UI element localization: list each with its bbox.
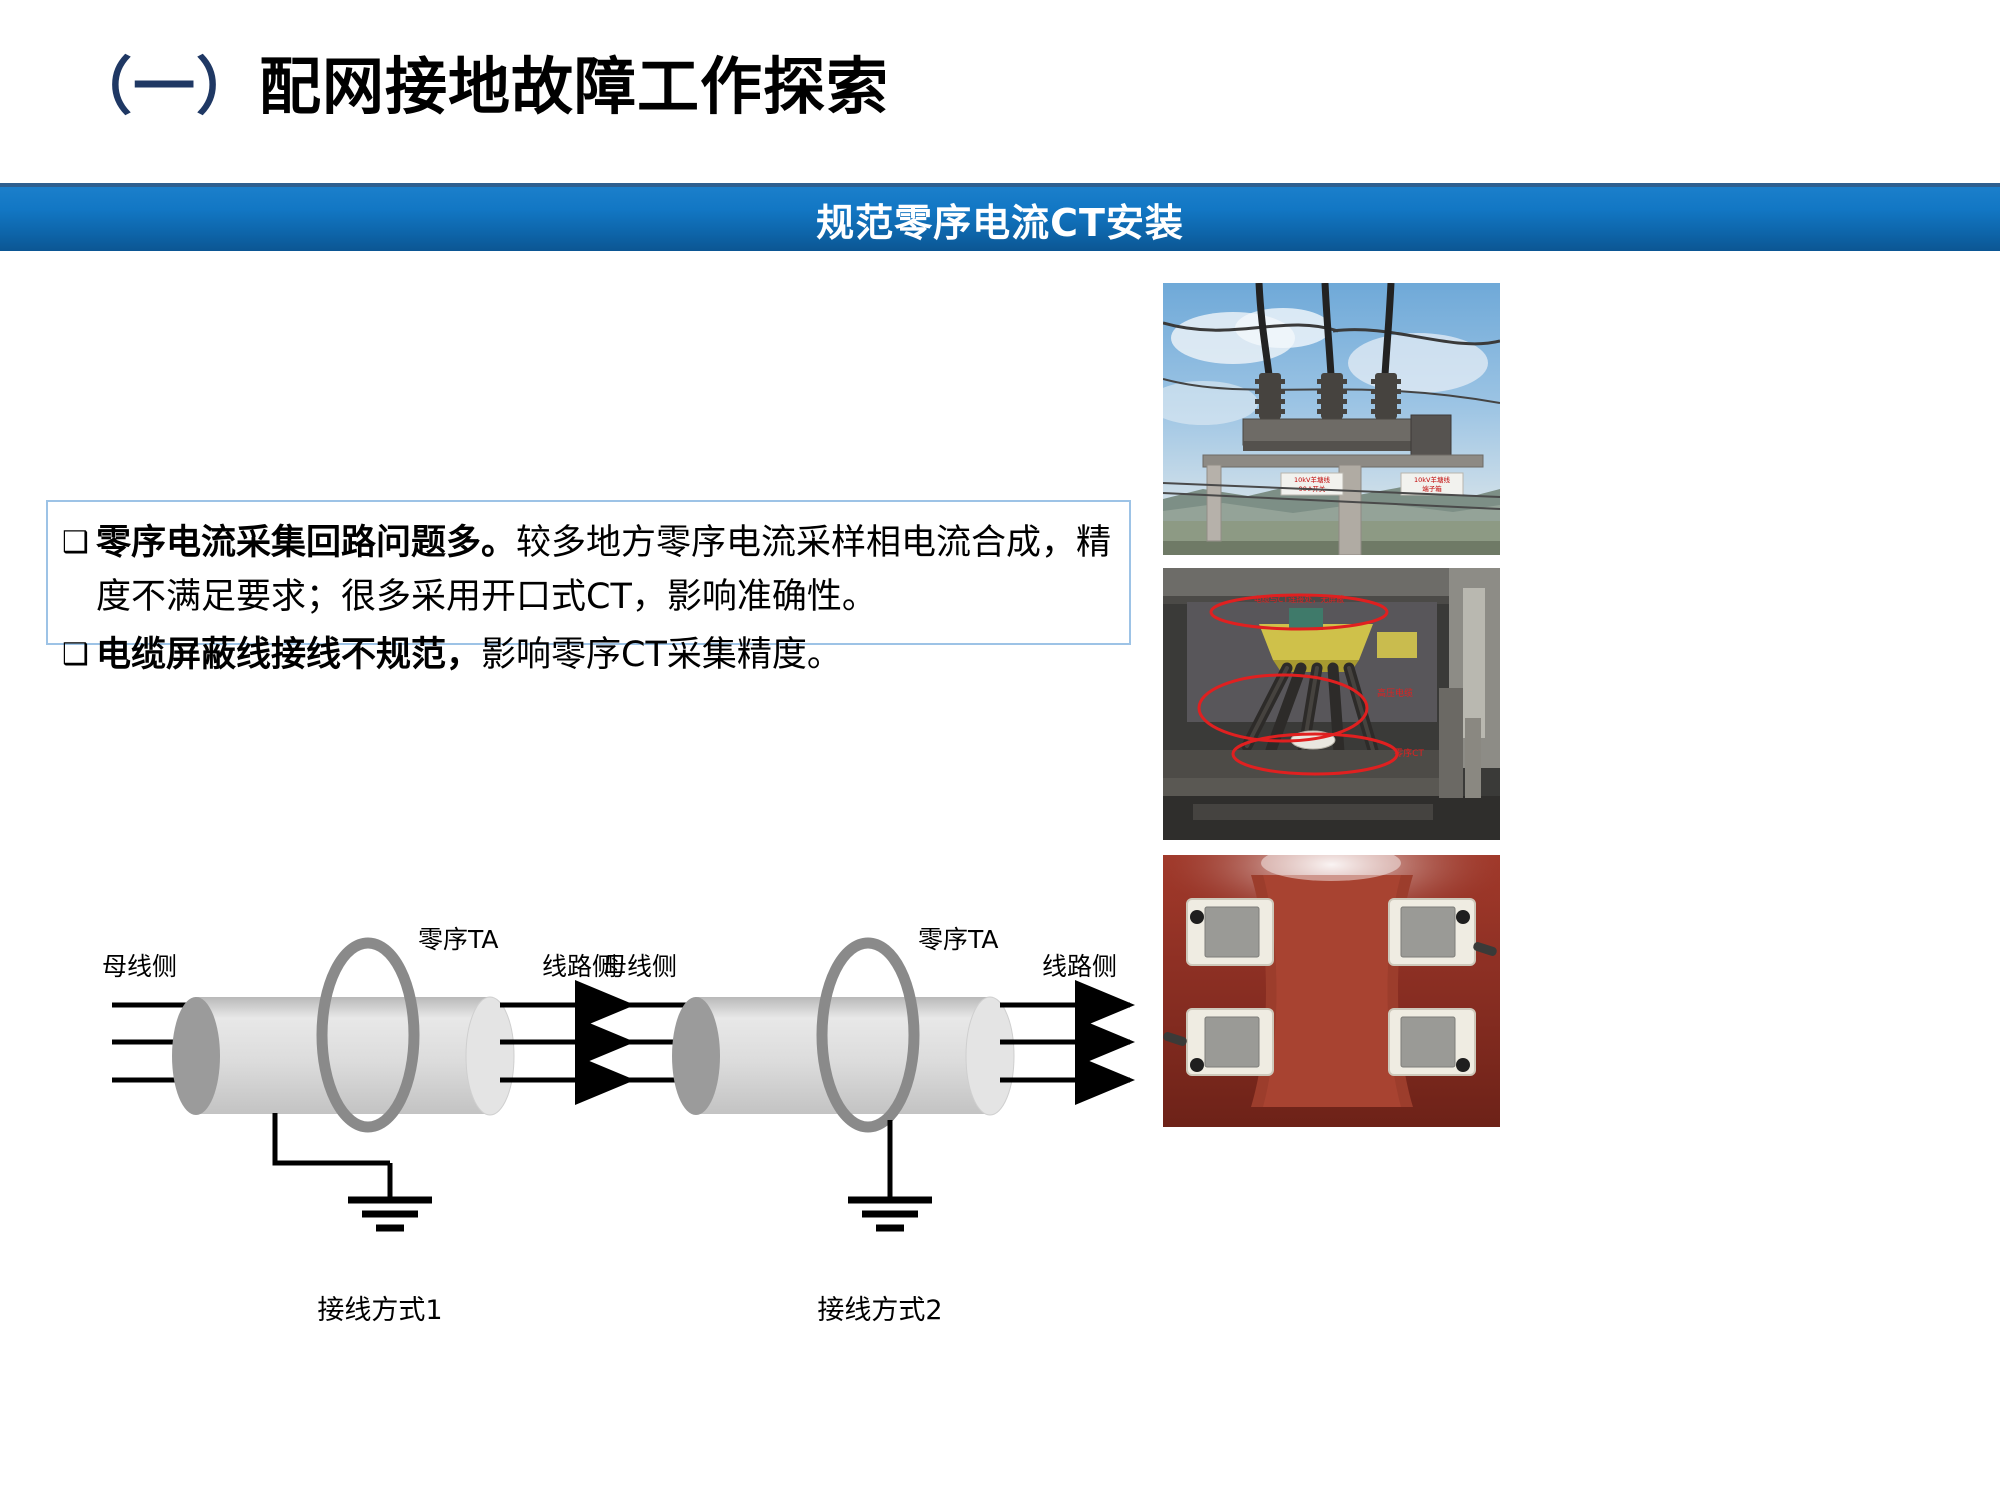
- section-banner: 规范零序电流CT安装: [0, 183, 2000, 251]
- list-item: ❑ 电缆屏蔽线接线不规范，影响零序CT采集精度。: [62, 628, 1119, 682]
- section-banner-title: 规范零序电流CT安装: [816, 192, 1184, 247]
- photo-2-svg: 电缆与CT连接处，无屏蔽 高压电缆 零序CT: [1163, 568, 1500, 840]
- ta-label-2: 零序TA: [918, 925, 998, 954]
- bullet-2-bold: 电缆屏蔽线接线不规范，: [96, 635, 481, 675]
- photo-1-annotation-1-line-1: 10kV羊塘线: [1294, 475, 1330, 484]
- ta-label-1: 零序TA: [418, 925, 498, 954]
- photo-2-annotation-2: 高压电缆: [1377, 687, 1413, 699]
- bullet-callout-box: ❑ 零序电流采集回路问题多。较多地方零序电流采样相电流合成，精度不满足要求；很多…: [46, 500, 1131, 645]
- bullet-2-regular: 影响零序CT采集精度。: [481, 635, 842, 675]
- photo-3-svg: [1163, 855, 1500, 1127]
- wiring-diagram-2: 零序TA 母线侧 线路侧 接线方式2: [600, 920, 1160, 1320]
- bus-side-label-2: 母线侧: [602, 952, 677, 981]
- wiring-diagram-1-svg: 零序TA 母线侧 线路侧: [100, 920, 660, 1280]
- photo-cable-termination-cubicle: 电缆与CT连接处，无屏蔽 高压电缆 零序CT: [1163, 568, 1500, 840]
- diagram-2-caption: 接线方式2: [600, 1288, 1160, 1327]
- bus-side-label-1: 母线侧: [102, 952, 177, 981]
- photo-pole-mounted-switchgear: 10kV羊塘线 90#开关 10kV羊塘线 端子箱: [1163, 283, 1500, 555]
- bullet-text-2: 电缆屏蔽线接线不规范，影响零序CT采集精度。: [96, 628, 1119, 682]
- photo-1-svg: 10kV羊塘线 90#开关 10kV羊塘线 端子箱: [1163, 283, 1500, 555]
- slide-root: （一）配网接地故障工作探索 规范零序电流CT安装 ❑ 零序电流采集回路问题多。较…: [0, 0, 2000, 1500]
- photo-2-annotation-1: 电缆与CT连接处，无屏蔽: [1254, 594, 1344, 604]
- photo-1-annotation-2-line-2: 端子箱: [1422, 484, 1442, 493]
- page-title: （一）配网接地故障工作探索: [70, 36, 889, 126]
- title-number: （一）: [70, 50, 259, 123]
- wiring-diagram-2-svg: 零序TA 母线侧 线路侧: [600, 920, 1160, 1280]
- diagram-1-caption: 接线方式1: [100, 1288, 660, 1327]
- list-item: ❑ 零序电流采集回路问题多。较多地方零序电流采样相电流合成，精度不满足要求；很多…: [62, 516, 1119, 624]
- photo-zero-sequence-ct-device: [1163, 855, 1500, 1127]
- square-bullet-icon: ❑: [62, 516, 96, 570]
- line-side-label-2: 线路侧: [1042, 952, 1117, 981]
- photo-2-annotation-3: 零序CT: [1394, 747, 1424, 759]
- bullet-1-bold: 零序电流采集回路问题多。: [96, 523, 516, 563]
- title-text: 配网接地故障工作探索: [259, 50, 889, 123]
- wiring-diagram-1: 零序TA 母线侧 线路侧 接线方式1: [100, 920, 660, 1320]
- photo-1-annotation-2-line-1: 10kV羊塘线: [1414, 475, 1450, 484]
- square-bullet-icon: ❑: [62, 628, 96, 682]
- bullet-text-1: 零序电流采集回路问题多。较多地方零序电流采样相电流合成，精度不满足要求；很多采用…: [96, 516, 1119, 624]
